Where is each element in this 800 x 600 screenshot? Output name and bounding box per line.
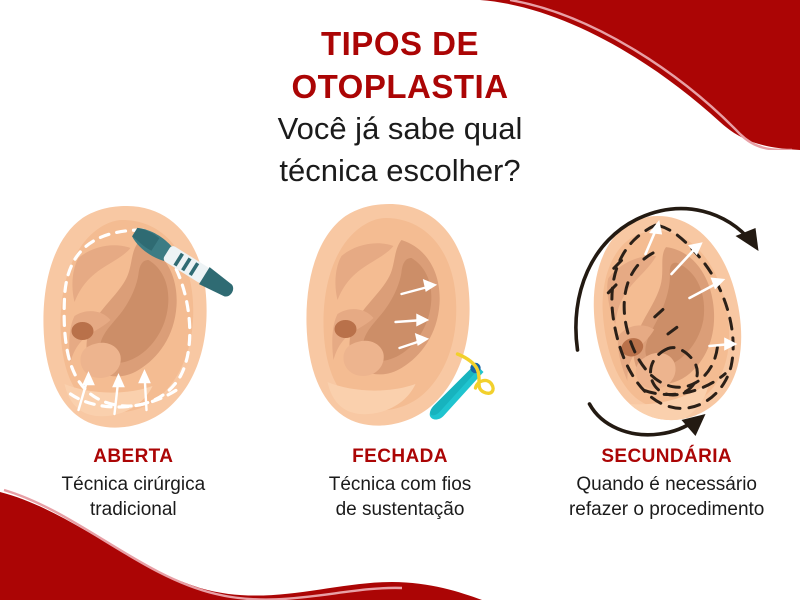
caption-aberta: ABERTA Técnica cirúrgica tradicional xyxy=(0,445,267,522)
technique-desc-secundaria: Quando é necessário refazer o procedimen… xyxy=(533,472,800,522)
technique-label-aberta: ABERTA xyxy=(0,445,267,469)
infographic-canvas: TIPOS DE OTOPLASTIA Você já sabe qual té… xyxy=(0,0,800,600)
ear-secondary-technique-illustration xyxy=(559,198,774,443)
ear-closed-technique-illustration xyxy=(298,198,503,438)
technique-desc-secundaria-line-1: Quando é necessário xyxy=(533,472,800,497)
ear-shape xyxy=(44,206,207,428)
ear-canal xyxy=(72,322,94,340)
technique-desc-aberta: Técnica cirúrgica tradicional xyxy=(0,472,267,522)
technique-label-secundaria: SECUNDÁRIA xyxy=(533,445,800,469)
heading-block: TIPOS DE OTOPLASTIA Você já sabe qual té… xyxy=(0,22,800,192)
technique-desc-secundaria-line-2: refazer o procedimento xyxy=(533,497,800,522)
technique-desc-fechada-line-1: Técnica com fios xyxy=(267,472,534,497)
technique-desc-fechada-line-2: de sustentação xyxy=(267,497,534,522)
page-subtitle-line-1: Você já sabe qual xyxy=(0,108,800,150)
page-subtitle-line-2: técnica escolher? xyxy=(0,150,800,192)
panel-aberta: ABERTA Técnica cirúrgica tradicional xyxy=(0,198,267,548)
panel-fechada: FECHADA Técnica com fios de sustentação xyxy=(267,198,534,548)
technique-desc-aberta-line-1: Técnica cirúrgica xyxy=(0,472,267,497)
page-title-line-1: TIPOS DE xyxy=(0,22,800,65)
ear-open-technique-illustration xyxy=(31,198,236,438)
technique-desc-fechada: Técnica com fios de sustentação xyxy=(267,472,534,522)
technique-label-fechada: FECHADA xyxy=(267,445,534,469)
technique-desc-aberta-line-2: tradicional xyxy=(0,497,267,522)
ear-shape-rotated xyxy=(568,200,765,438)
ear-shape xyxy=(306,204,469,426)
panel-secundaria: SECUNDÁRIA Quando é necessário refazer o… xyxy=(533,198,800,548)
caption-fechada: FECHADA Técnica com fios de sustentação xyxy=(267,445,534,522)
page-title-line-2: OTOPLASTIA xyxy=(0,65,800,108)
caption-secundaria: SECUNDÁRIA Quando é necessário refazer o… xyxy=(533,445,800,522)
ear-canal xyxy=(335,320,357,338)
technique-panels: ABERTA Técnica cirúrgica tradicional xyxy=(0,198,800,548)
